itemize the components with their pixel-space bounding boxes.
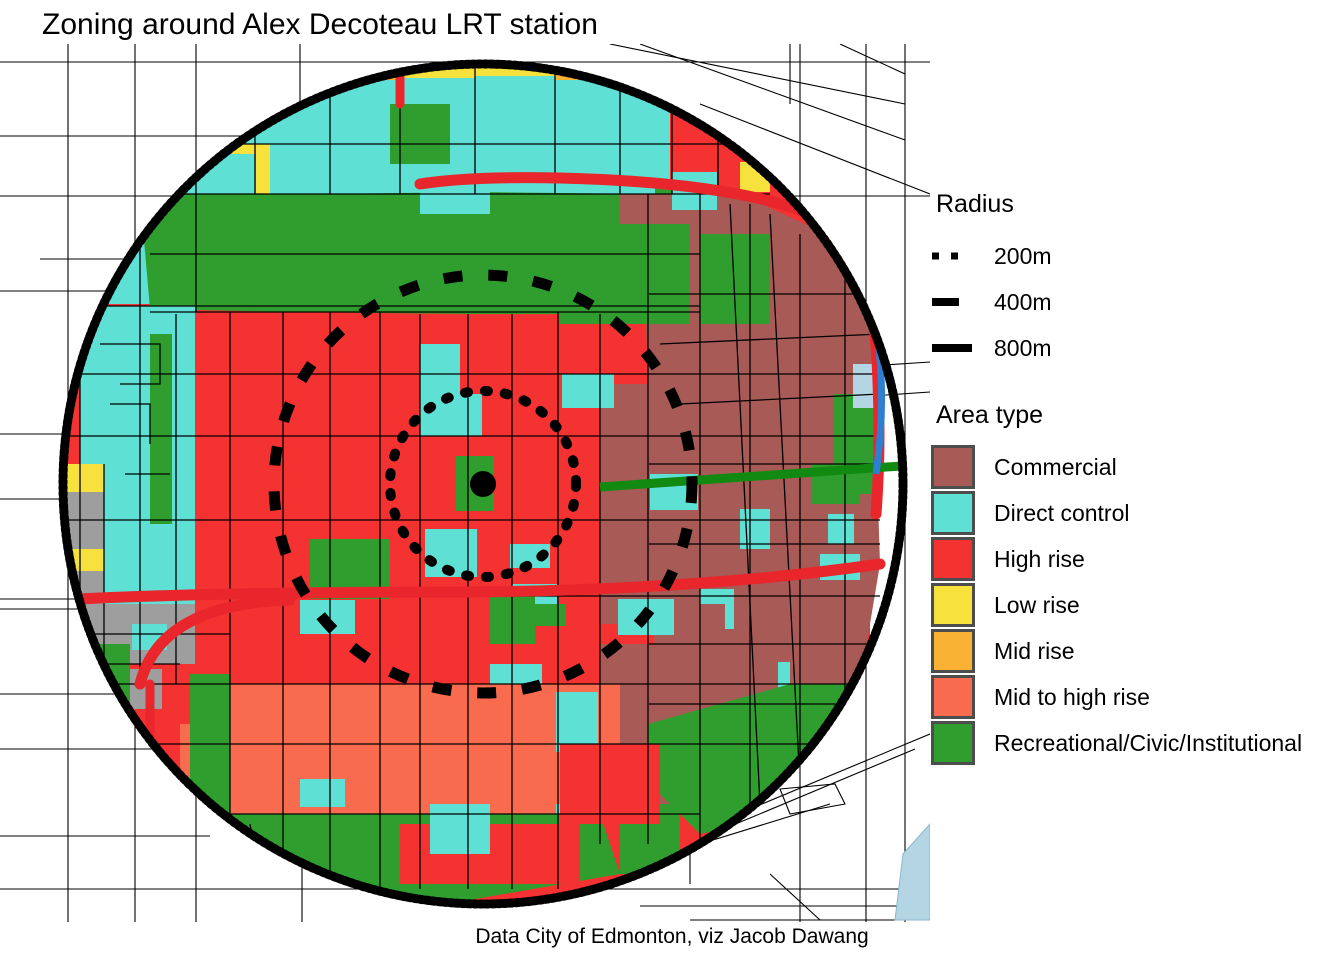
legend-key-mid-to-high-rise xyxy=(930,674,976,720)
color-swatch-direct-control xyxy=(931,491,975,535)
color-swatch-mid-rise xyxy=(931,629,975,673)
legend-area-type-group: Area type Commercial Direct control High… xyxy=(930,401,1344,766)
parcel-direct-control xyxy=(740,509,770,549)
legend-key-low-rise xyxy=(930,582,976,628)
legend-area-label-commercial: Commercial xyxy=(994,454,1117,481)
legend-key-direct-control xyxy=(930,490,976,536)
legend-area-item-mid-rise[interactable]: Mid rise xyxy=(930,628,1344,674)
parcel-recreational xyxy=(360,204,400,259)
legend-area-item-recreational[interactable]: Recreational/Civic/Institutional xyxy=(930,720,1344,766)
legend-area-type-heading: Area type xyxy=(936,401,1344,430)
legend-radius-item-200m[interactable]: 200m xyxy=(930,233,1344,279)
parcel-high-rise xyxy=(560,744,660,824)
map-page: Zoning around Alex Decoteau LRT station xyxy=(0,0,1344,960)
parcel-recreational xyxy=(150,334,172,524)
legend-area-label-high-rise: High rise xyxy=(994,546,1085,573)
zoning-map-svg[interactable] xyxy=(0,44,930,922)
dashed-line-icon xyxy=(930,279,976,325)
legend-area-item-low-rise[interactable]: Low rise xyxy=(930,582,1344,628)
legend-area-label-low-rise: Low rise xyxy=(994,592,1080,619)
legend-area-item-high-rise[interactable]: High rise xyxy=(930,536,1344,582)
legend-area-label-direct-control: Direct control xyxy=(994,500,1129,527)
station-dot[interactable] xyxy=(470,471,496,497)
legend-area-label-recreational: Recreational/Civic/Institutional xyxy=(994,730,1302,757)
legend-key-400m xyxy=(930,279,976,325)
legend-radius-heading: Radius xyxy=(936,190,1344,219)
legend-key-high-rise xyxy=(930,536,976,582)
parcel-recreational xyxy=(560,224,690,324)
parcel-direct-control xyxy=(828,514,854,544)
legend-key-commercial xyxy=(930,444,976,490)
legend-area-item-mid-to-high-rise[interactable]: Mid to high rise xyxy=(930,674,1344,720)
parcel-direct-control xyxy=(556,692,598,752)
color-swatch-recreational xyxy=(931,721,975,765)
legend-key-200m xyxy=(930,233,976,279)
parcel-direct-control xyxy=(562,374,614,408)
legend-key-recreational xyxy=(930,720,976,766)
map-legend: Radius 200m 400m xyxy=(930,190,1344,784)
parcel-commercial xyxy=(680,604,725,644)
legend-radius-label-400m: 400m xyxy=(994,289,1052,316)
legend-radius-label-200m: 200m xyxy=(994,243,1052,270)
legend-radius-item-400m[interactable]: 400m xyxy=(930,279,1344,325)
color-swatch-commercial xyxy=(931,445,975,489)
parcel-recreational xyxy=(390,104,450,164)
map-canvas[interactable] xyxy=(0,44,930,922)
parcel-recreational xyxy=(528,604,566,626)
parcel-direct-control xyxy=(300,779,345,807)
solid-line-icon xyxy=(930,325,976,371)
legend-radius-group: Radius 200m 400m xyxy=(930,190,1344,371)
color-swatch-low-rise xyxy=(931,583,975,627)
source-caption: Data City of Edmonton, viz Jacob Dawang xyxy=(0,925,1344,949)
legend-area-item-direct-control[interactable]: Direct control xyxy=(930,490,1344,536)
page-title: Zoning around Alex Decoteau LRT station xyxy=(42,8,598,42)
parcel-low-rise xyxy=(62,464,104,492)
color-swatch-high-rise xyxy=(931,537,975,581)
parcel-direct-control xyxy=(420,344,460,394)
color-swatch-mid-to-high-rise xyxy=(931,675,975,719)
legend-area-label-mid-rise: Mid rise xyxy=(994,638,1075,665)
legend-radius-item-800m[interactable]: 800m xyxy=(930,325,1344,371)
dotted-line-icon xyxy=(930,233,976,279)
legend-key-mid-rise xyxy=(930,628,976,674)
legend-radius-label-800m: 800m xyxy=(994,335,1052,362)
legend-area-label-mid-to-high-rise: Mid to high rise xyxy=(994,684,1150,711)
parcel-direct-control xyxy=(430,804,490,854)
legend-area-item-commercial[interactable]: Commercial xyxy=(930,444,1344,490)
legend-key-800m xyxy=(930,325,976,371)
